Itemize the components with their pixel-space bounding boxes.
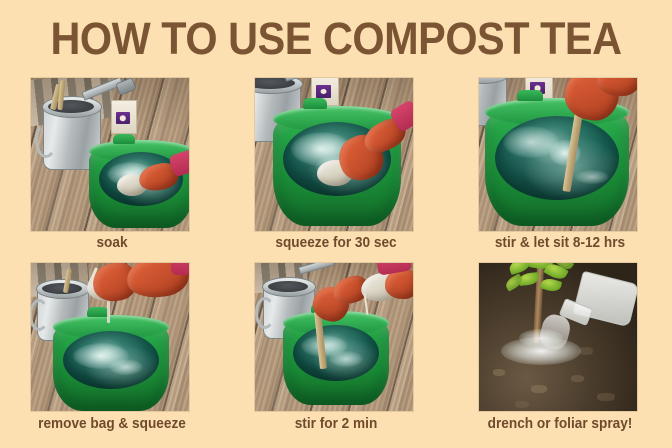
step-photo-1 [31, 78, 189, 231]
step-cell-6: drench or foliar spray! [448, 260, 672, 444]
step-cell-2: squeeze for 30 sec [224, 76, 448, 260]
step-caption-6: drench or foliar spray! [455, 415, 666, 433]
step-caption-4: remove bag & squeeze [7, 415, 218, 433]
step-photo-2 [255, 78, 413, 231]
step-cell-5: stir for 2 min [224, 260, 448, 444]
step-caption-5: stir for 2 min [231, 415, 442, 433]
step-photo-5 [255, 263, 413, 411]
page-title: HOW TO USE COMPOST TEA [27, 14, 645, 64]
step-photo-4 [31, 263, 189, 411]
step-cell-3: stir & let sit 8-12 hrs [448, 76, 672, 260]
compost-tea-infographic: HOW TO USE COMPOST TEA [0, 0, 672, 448]
step-caption-3: stir & let sit 8-12 hrs [455, 234, 666, 252]
step-photo-6 [479, 263, 637, 411]
step-cell-4: remove bag & squeeze [0, 260, 224, 444]
step-cell-1: soak [0, 76, 224, 260]
step-photo-3 [479, 78, 637, 231]
step-caption-1: soak [7, 234, 218, 252]
step-caption-2: squeeze for 30 sec [231, 234, 442, 252]
steps-grid: soak [0, 76, 672, 444]
